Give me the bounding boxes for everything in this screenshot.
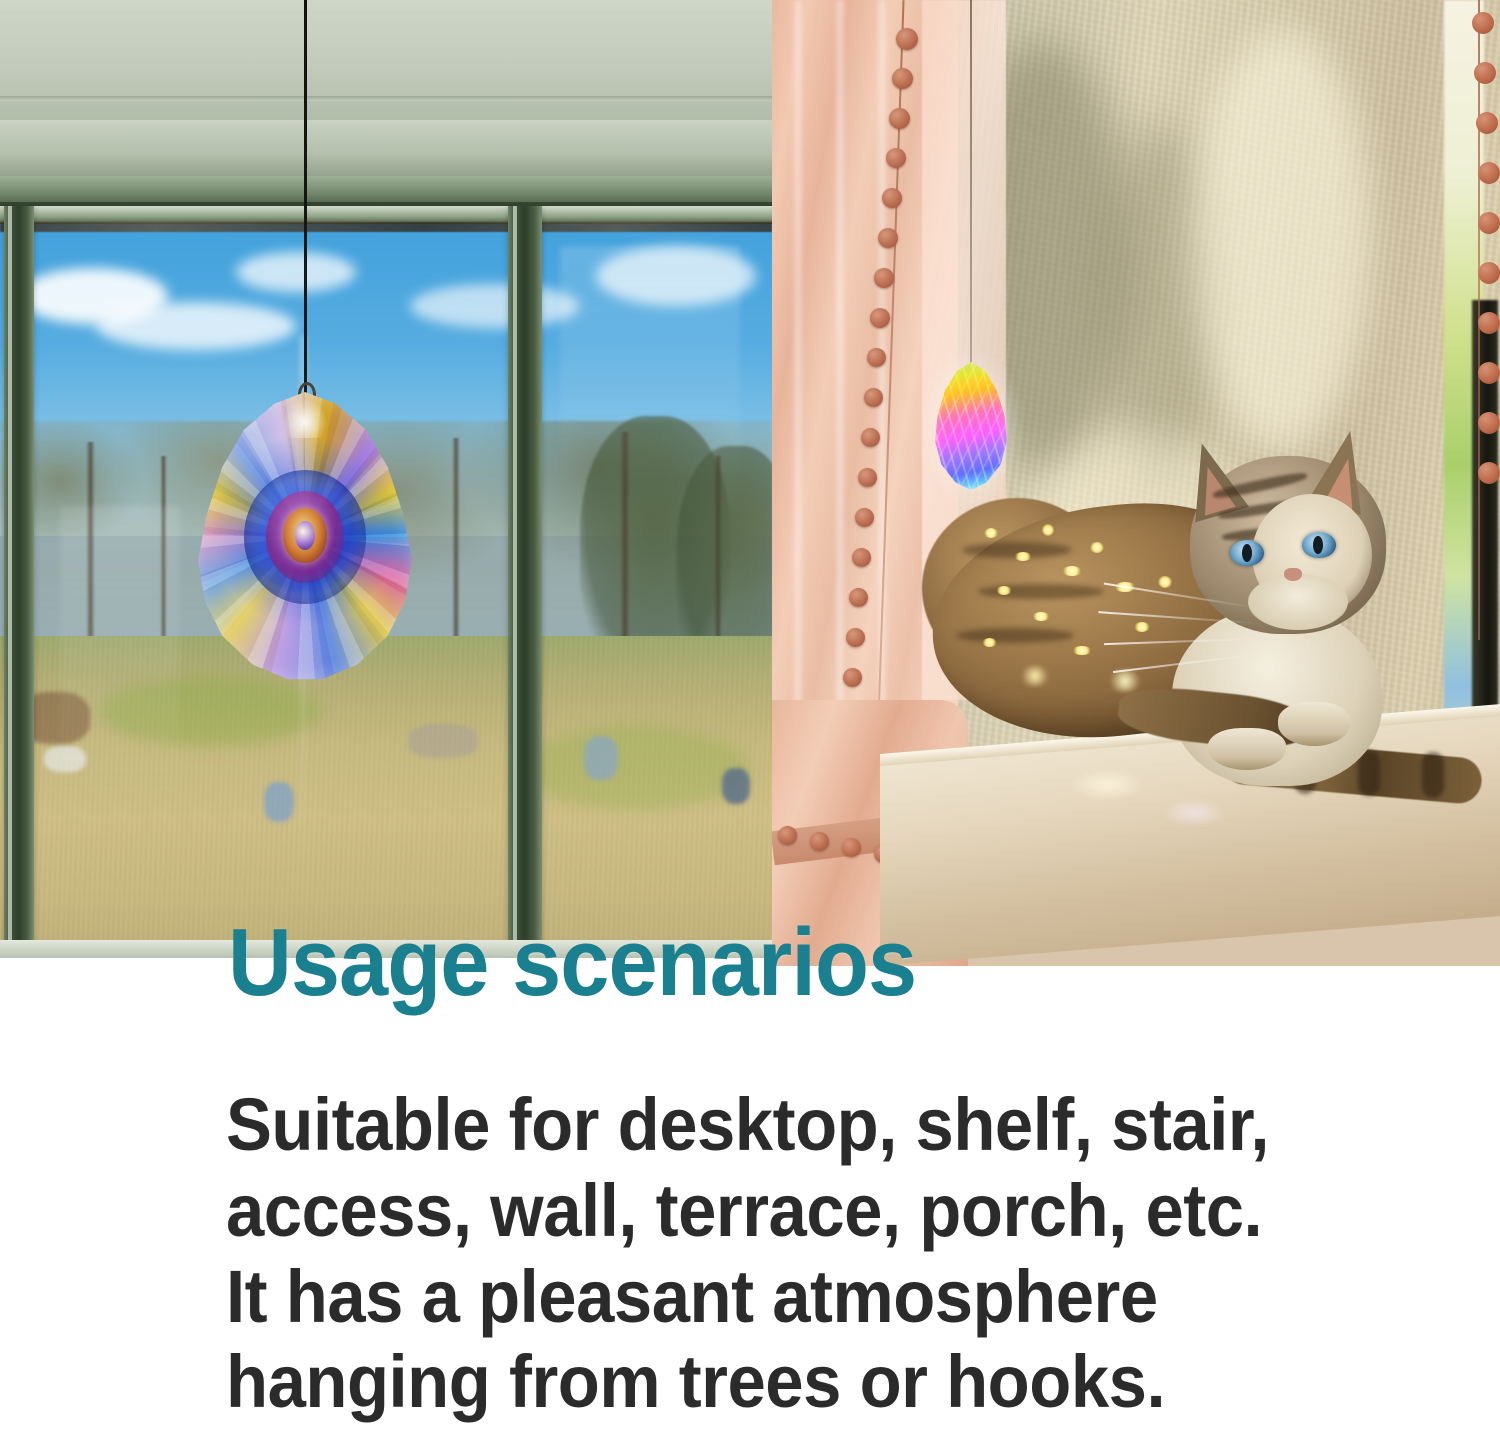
prism-sparkle [1072, 646, 1092, 655]
mullion-highlight [513, 206, 517, 958]
pompom [849, 588, 868, 607]
crystal-core [295, 521, 315, 550]
prism-sparkle [1042, 524, 1054, 536]
cat-eye-right [1302, 532, 1336, 558]
cloud [236, 252, 356, 292]
prism-sparkle [1114, 582, 1136, 592]
pompom [1478, 312, 1500, 334]
prism-sparkle [996, 586, 1012, 595]
hanging-cord [970, 0, 972, 370]
crystal-highlight [283, 398, 327, 439]
grass-patch [520, 726, 750, 810]
pompom [1478, 162, 1500, 184]
pompom [855, 508, 874, 527]
pompom [878, 228, 898, 248]
window-sash-grime [0, 222, 772, 232]
prism-sparkle [984, 528, 998, 538]
crystal-suncatcher [196, 392, 414, 682]
cat [922, 456, 1482, 846]
window-valance [0, 120, 772, 182]
pompom [867, 348, 886, 367]
cat-nose [1284, 568, 1302, 581]
pompom [1472, 12, 1494, 34]
pompom [842, 838, 861, 857]
photo-band [0, 0, 1500, 966]
wall-sunlight [1192, 30, 1372, 450]
hanging-cord [304, 0, 307, 398]
prism-glow [1164, 800, 1224, 826]
prism-sparkle [1014, 552, 1032, 561]
cloud [410, 284, 580, 328]
yard-debris [264, 782, 294, 822]
glass-reflection [60, 506, 180, 806]
cat-muzzle [1248, 574, 1348, 630]
prism-sparkle [1062, 566, 1082, 576]
yard-debris [584, 736, 618, 780]
cat-pupil [1242, 544, 1252, 562]
cat-pupil [1313, 536, 1323, 554]
prism-glow [1108, 670, 1142, 692]
description-line-1: Suitable for desktop, shelf, stair, [226, 1082, 1323, 1168]
photo-cat-windowsill [772, 0, 1500, 966]
pompom [1478, 412, 1500, 434]
product-usage-banner: Usage scenarios Suitable for desktop, sh… [0, 0, 1500, 1448]
pompom [852, 548, 871, 567]
pompom [1478, 362, 1500, 384]
description-line-4: hanging from trees or hooks. [226, 1339, 1323, 1425]
cat-paw [1208, 728, 1286, 770]
prism-sparkle [982, 638, 997, 647]
pompom [1478, 212, 1500, 234]
prism-sparkle [1158, 576, 1172, 588]
pompom [886, 148, 906, 168]
glass-reflection [560, 246, 740, 486]
prism-glow [1072, 770, 1142, 800]
cat-eye-left [1230, 540, 1264, 566]
cat-tail-band [1422, 752, 1444, 798]
mullion-highlight [8, 206, 12, 958]
pompom [810, 832, 829, 851]
page-title: Usage scenarios [228, 918, 916, 1008]
prism-glow [1020, 666, 1050, 686]
pompom [1478, 262, 1500, 284]
pompom [896, 28, 918, 50]
prism-sparkle [1032, 612, 1050, 621]
pompom [1476, 112, 1498, 134]
pompom [843, 668, 862, 687]
yard-debris [408, 724, 478, 758]
pompom [892, 68, 913, 89]
yard-debris [722, 768, 750, 804]
photo-window-suncatcher [0, 0, 772, 958]
pompom [778, 826, 797, 845]
description-line-3: It has a pleasant atmosphere [226, 1254, 1323, 1340]
pompom [874, 268, 894, 288]
pompom [864, 388, 883, 407]
pompom [846, 628, 865, 647]
prism-sparkle [1090, 542, 1104, 553]
cat-paw [1278, 702, 1350, 746]
pompom [858, 468, 877, 487]
cloud [96, 302, 296, 350]
usage-description: Suitable for desktop, shelf, stair, acce… [226, 1082, 1406, 1425]
pompom [870, 308, 890, 328]
prism-sparkle [1134, 622, 1150, 632]
pompom [861, 428, 880, 447]
cat-tail-band [1358, 750, 1380, 796]
pompom [1474, 62, 1496, 84]
header-seam [0, 96, 772, 101]
pompom [882, 188, 902, 208]
cat-stripe [956, 628, 1074, 643]
description-line-2: access, wall, terrace, porch, etc. [226, 1168, 1323, 1254]
pompom [889, 108, 910, 129]
